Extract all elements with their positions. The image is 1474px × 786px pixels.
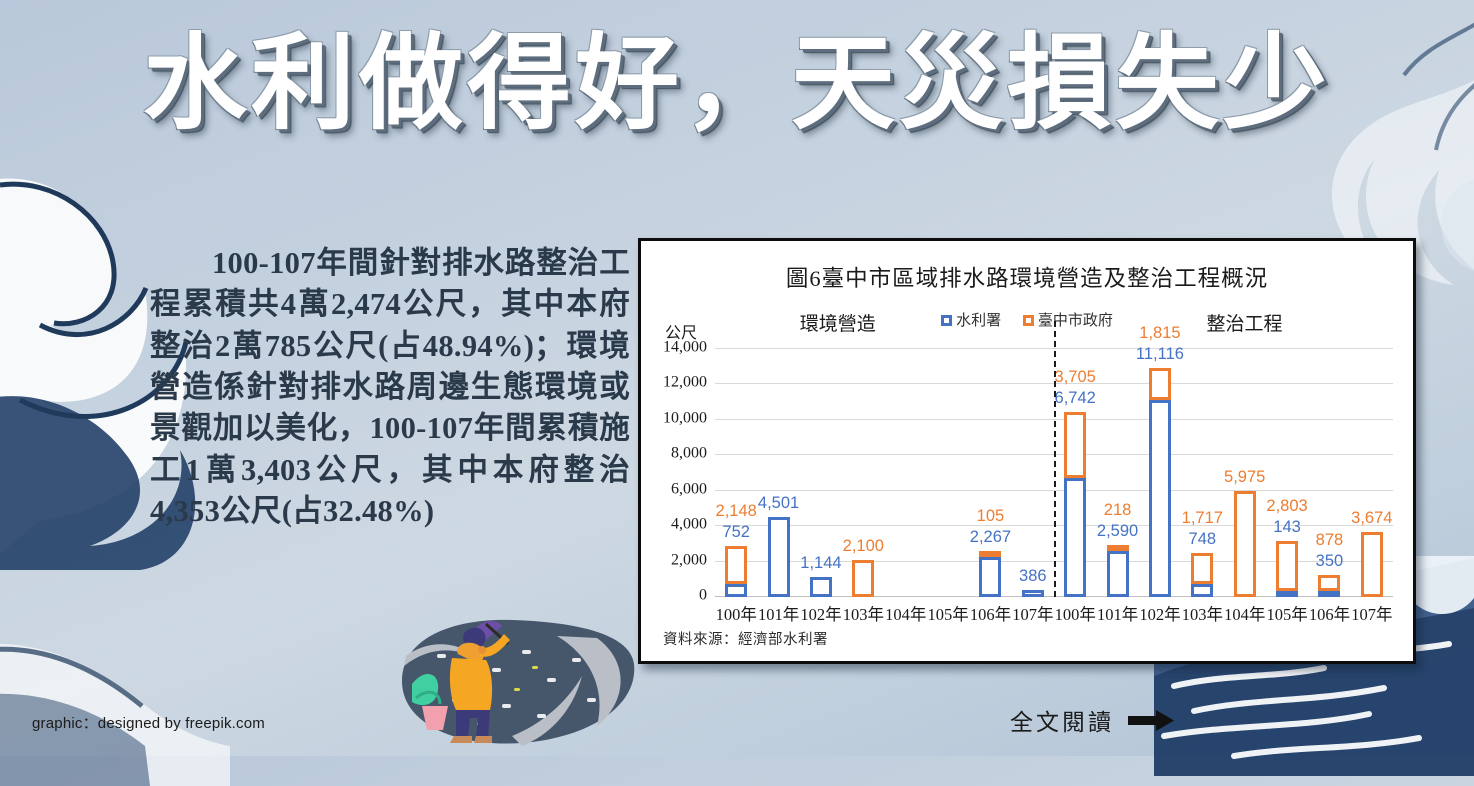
chart-bar-segment-orange bbox=[1234, 491, 1256, 597]
read-more-link[interactable]: 全文閱讀 bbox=[1010, 703, 1174, 737]
chart-bar-segment-blue bbox=[1064, 478, 1086, 597]
read-more-label: 全文閱讀 bbox=[1010, 703, 1114, 737]
chart-data-label-orange: 105 bbox=[977, 507, 1005, 526]
x-axis-label: 107年 bbox=[1012, 601, 1053, 625]
chart-bar-segment-orange bbox=[979, 551, 1001, 557]
x-axis-label: 106年 bbox=[1309, 601, 1350, 625]
x-axis-label: 102年 bbox=[800, 601, 841, 625]
chart-bar-segment-blue bbox=[1149, 400, 1171, 597]
chart-data-label-orange: 5,975 bbox=[1224, 468, 1265, 487]
chart-bar-segment-blue bbox=[1276, 591, 1298, 597]
chart-bar-slot: 350878 bbox=[1308, 349, 1350, 597]
chart-bar-segment-orange bbox=[725, 546, 747, 584]
y-axis-tick: 10,000 bbox=[663, 409, 707, 427]
x-axis-label: 106年 bbox=[970, 601, 1011, 625]
chart-bar-slot: 2,100 bbox=[842, 349, 884, 597]
chart-data-label-blue: 1,144 bbox=[800, 554, 841, 573]
chart-data-label-orange: 1,815 bbox=[1139, 324, 1180, 343]
chart-data-label-blue: 2,590 bbox=[1097, 522, 1138, 541]
chart-bar-segment-blue bbox=[725, 584, 747, 597]
right-arrow-icon bbox=[1128, 710, 1174, 731]
chart-data-label-blue: 748 bbox=[1189, 530, 1217, 549]
y-axis-tick: 2,000 bbox=[671, 551, 707, 569]
chart-plot-area: 02,0004,0006,0008,00010,00012,00014,0007… bbox=[715, 349, 1393, 597]
chart-bar-slot: 7481,717 bbox=[1181, 349, 1223, 597]
chart-bar-segment-blue bbox=[1318, 591, 1340, 597]
chart-bar-segment-orange bbox=[1361, 532, 1383, 597]
x-axis-label: 100年 bbox=[716, 601, 757, 625]
chart-data-label-blue: 4,501 bbox=[758, 494, 799, 513]
chart-bar-segment-orange bbox=[1149, 368, 1171, 400]
chart-legend: 水利署 臺中市政府 bbox=[641, 309, 1413, 330]
x-axis-label: 105年 bbox=[927, 601, 968, 625]
chart-data-label-orange: 878 bbox=[1316, 531, 1344, 550]
chart-data-label-orange: 218 bbox=[1104, 501, 1132, 520]
credit-text: graphic：designed by freepik.com bbox=[32, 712, 265, 733]
y-axis-tick: 4,000 bbox=[671, 516, 707, 534]
x-axis-label: 103年 bbox=[843, 601, 884, 625]
chart-bar-slot bbox=[927, 349, 969, 597]
x-axis-label: 103年 bbox=[1182, 601, 1223, 625]
chart-data-label-blue: 143 bbox=[1273, 518, 1301, 537]
x-axis-label: 101年 bbox=[1097, 601, 1138, 625]
chart-data-label-orange: 2,100 bbox=[843, 537, 884, 556]
chart-bar-segment-orange bbox=[1276, 541, 1298, 591]
x-axis-label: 107年 bbox=[1351, 601, 1392, 625]
chart-data-label-blue: 752 bbox=[722, 523, 750, 542]
body-paragraph: 100-107年間針對排水路整治工程累積共4萬2,474公尺，其中本府整治2萬7… bbox=[150, 243, 630, 532]
x-axis-label: 104年 bbox=[1224, 601, 1265, 625]
chart-data-label-blue: 350 bbox=[1316, 552, 1344, 571]
chart-bar-slot: 11,1161,815 bbox=[1139, 349, 1181, 597]
chart-bar-segment-blue bbox=[810, 577, 832, 597]
chart-bar-segment-orange bbox=[1318, 575, 1340, 591]
chart-bar-slot: 7522,148 bbox=[715, 349, 757, 597]
chart-bar-segment-orange bbox=[1191, 553, 1213, 583]
chart-data-label-orange: 1,717 bbox=[1182, 509, 1223, 528]
chart-data-label-orange: 3,705 bbox=[1055, 368, 1096, 387]
chart-bar-segment-orange bbox=[1107, 545, 1129, 551]
chart-section-label-left: 環境營造 bbox=[800, 309, 876, 336]
legend-label-1: 臺中市政府 bbox=[1038, 313, 1113, 329]
legend-item-0: 水利署 bbox=[941, 309, 1001, 330]
chart-bar-segment-blue bbox=[979, 557, 1001, 597]
x-axis-label: 101年 bbox=[758, 601, 799, 625]
chart-data-label-blue: 6,742 bbox=[1055, 389, 1096, 408]
chart-bar-slot: 1,144 bbox=[800, 349, 842, 597]
legend-item-1: 臺中市政府 bbox=[1023, 309, 1113, 330]
chart-section-label-right: 整治工程 bbox=[1207, 309, 1283, 336]
y-axis-tick: 6,000 bbox=[671, 480, 707, 498]
legend-label-0: 水利署 bbox=[956, 313, 1001, 329]
y-axis-tick: 14,000 bbox=[663, 339, 707, 357]
slide-root: 水利做得好，天災損失少 100-107年間針對排水路整治工程累積共4萬2,474… bbox=[0, 0, 1474, 756]
chart-bar-slot bbox=[885, 349, 927, 597]
chart-data-label-orange: 2,148 bbox=[716, 502, 757, 521]
wave-decoration-bottom-left bbox=[0, 606, 230, 786]
y-axis-tick: 8,000 bbox=[671, 445, 707, 463]
page-title: 水利做得好，天災損失少 bbox=[0, 22, 1474, 145]
chart-bar-slot: 3,674 bbox=[1351, 349, 1393, 597]
chart-source-note: 資料來源：經濟部水利署 bbox=[663, 628, 828, 649]
y-axis-tick: 12,000 bbox=[663, 374, 707, 392]
chart-bar-segment-orange bbox=[1064, 412, 1086, 478]
chart-bar-segment-blue bbox=[1022, 590, 1044, 597]
storm-illustration bbox=[382, 606, 642, 751]
x-axis-label: 104年 bbox=[885, 601, 926, 625]
chart-title: 圖6臺中市區域排水路環境營造及整治工程概況 bbox=[641, 261, 1413, 293]
chart-bar-segment-blue bbox=[1107, 551, 1129, 597]
chart-bar-slot: 6,7423,705 bbox=[1054, 349, 1096, 597]
x-axis-label: 102年 bbox=[1139, 601, 1180, 625]
chart-data-label-blue: 386 bbox=[1019, 567, 1047, 586]
chart-data-label-blue: 2,267 bbox=[970, 528, 1011, 547]
x-axis-label: 105年 bbox=[1266, 601, 1307, 625]
x-axis-labels: 100年101年102年103年104年105年106年107年100年101年… bbox=[715, 601, 1393, 627]
chart-bar-segment-blue bbox=[1191, 584, 1213, 597]
chart-panel: 圖6臺中市區域排水路環境營造及整治工程概況 水利署 臺中市政府 公尺 02,00… bbox=[638, 238, 1416, 664]
x-axis-label: 100年 bbox=[1055, 601, 1096, 625]
chart-bar-slot: 2,267105 bbox=[969, 349, 1011, 597]
chart-bar-slot: 4,501 bbox=[757, 349, 799, 597]
chart-bar-slot: 2,590218 bbox=[1096, 349, 1138, 597]
y-axis-tick: 0 bbox=[699, 587, 707, 605]
legend-swatch-orange-icon bbox=[1023, 315, 1034, 326]
chart-bar-slot: 1432,803 bbox=[1266, 349, 1308, 597]
chart-section-divider bbox=[1054, 321, 1056, 597]
chart-bar-slot: 5,975 bbox=[1224, 349, 1266, 597]
legend-swatch-blue-icon bbox=[941, 315, 952, 326]
chart-bar-segment-blue bbox=[768, 517, 790, 597]
chart-bar-slot: 386 bbox=[1012, 349, 1054, 597]
chart-bar-segment-orange bbox=[852, 560, 874, 597]
chart-data-label-orange: 3,674 bbox=[1351, 509, 1392, 528]
chart-data-label-orange: 2,803 bbox=[1266, 497, 1307, 516]
chart-data-label-blue: 11,116 bbox=[1136, 345, 1184, 364]
